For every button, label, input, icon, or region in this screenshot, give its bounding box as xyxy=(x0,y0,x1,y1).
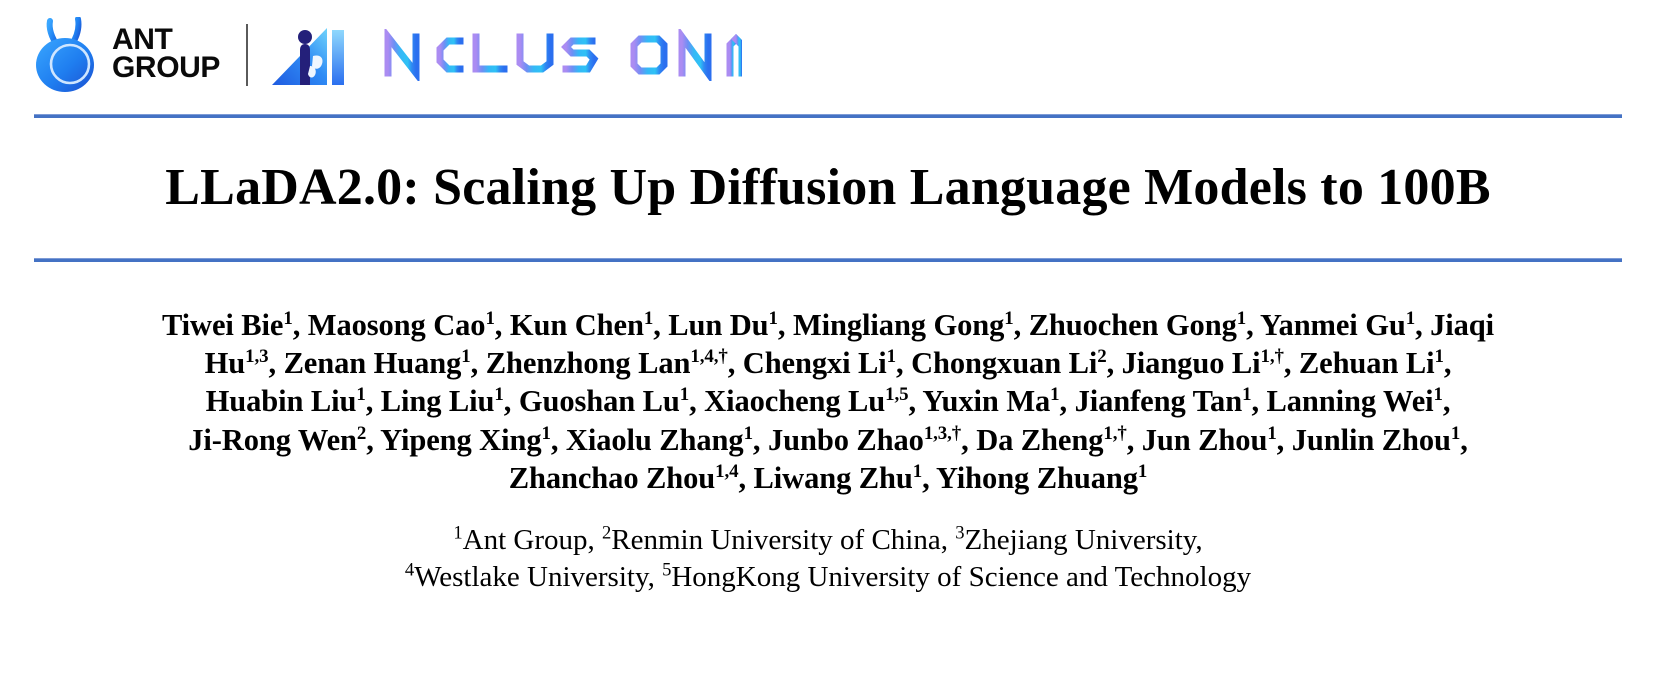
author-name: Yipeng Xing xyxy=(380,423,541,457)
author-separator: , xyxy=(1246,308,1260,342)
author-name: Xiaocheng Lu xyxy=(704,384,885,418)
author-affiliation-marker: 1 xyxy=(644,307,653,328)
author-name: Jiaqi xyxy=(1430,308,1494,342)
author-separator: , xyxy=(896,346,911,380)
author-separator: , xyxy=(1127,423,1142,457)
author-list: Tiwei Bie1, Maosong Cao1, Kun Chen1, Lun… xyxy=(0,262,1656,498)
author-affiliation-marker: 2 xyxy=(1097,346,1106,367)
author-name: Zhanchao Zhou xyxy=(509,461,715,495)
ant-group-logo: ANT GROUP xyxy=(30,17,220,93)
affiliation-name: Westlake University xyxy=(414,561,647,593)
affiliation-marker: 2 xyxy=(602,522,611,543)
author-affiliation-marker: 1 xyxy=(769,307,778,328)
inclusion-ai-logo xyxy=(270,22,742,88)
affiliation-name: Ant Group xyxy=(463,524,588,556)
author-affiliation-marker: 1 xyxy=(283,307,292,328)
author-name: Kun Chen xyxy=(510,308,644,342)
author-affiliation-marker: 1 xyxy=(1406,307,1415,328)
affiliation-separator: , xyxy=(941,524,956,556)
affiliation-name: Renmin University of China xyxy=(611,524,940,556)
author-line: Zhanchao Zhou1,4, Liwang Zhu1, Yihong Zh… xyxy=(28,459,1628,497)
author-affiliation-marker: 1,3,† xyxy=(924,423,961,444)
author-name: Zhuochen Gong xyxy=(1029,308,1237,342)
author-separator: , xyxy=(504,384,519,418)
author-name: Huabin Liu xyxy=(206,384,357,418)
author-separator: , xyxy=(653,308,668,342)
author-name: Jun Zhou xyxy=(1142,423,1268,457)
author-separator: , xyxy=(1460,423,1468,457)
author-name: Yihong Zhuang xyxy=(936,461,1138,495)
affiliation-marker: 5 xyxy=(662,559,671,580)
logo-divider xyxy=(246,24,248,86)
author-name: Da Zheng xyxy=(976,423,1103,457)
affiliation-separator: , xyxy=(1195,524,1202,556)
affiliation-line: 1Ant Group, 2Renmin University of China,… xyxy=(40,522,1616,559)
author-affiliation-marker: 1 xyxy=(542,423,551,444)
affiliation-marker: 3 xyxy=(955,522,964,543)
author-separator: , xyxy=(551,423,566,457)
author-name: Junbo Zhao xyxy=(768,423,924,457)
author-affiliation-marker: 1,4 xyxy=(715,461,738,482)
author-affiliation-marker: 1,† xyxy=(1103,423,1126,444)
author-line: Ji-Rong Wen2, Yipeng Xing1, Xiaolu Zhang… xyxy=(28,421,1628,459)
author-name: Lanning Wei xyxy=(1267,384,1434,418)
affiliation-marker: 4 xyxy=(405,559,414,580)
ant-bug-icon xyxy=(30,17,100,93)
author-affiliation-marker: 1 xyxy=(1237,307,1246,328)
author-separator: , xyxy=(1060,384,1075,418)
author-separator: , xyxy=(778,308,793,342)
affiliation-list: 1Ant Group, 2Renmin University of China,… xyxy=(0,498,1656,596)
affiliation-line: 4Westlake University, 5HongKong Universi… xyxy=(40,559,1616,596)
author-name: Ling Liu xyxy=(381,384,495,418)
author-line: Hu1,3, Zenan Huang1, Zhenzhong Lan1,4,†,… xyxy=(28,344,1628,382)
author-name: Jianguo Li xyxy=(1122,346,1261,380)
author-name: Zhenzhong Lan xyxy=(486,346,691,380)
author-affiliation-marker: 1 xyxy=(485,307,494,328)
ant-wordmark-line-1: ANT xyxy=(112,26,220,54)
ant-group-wordmark: ANT GROUP xyxy=(112,26,220,83)
affiliation-marker: 1 xyxy=(453,522,462,543)
author-separator: , xyxy=(738,461,753,495)
author-affiliation-marker: 1 xyxy=(680,384,689,405)
author-separator: , xyxy=(1277,423,1292,457)
author-affiliation-marker: 1 xyxy=(461,346,470,367)
affiliation-name: Zhejiang University xyxy=(965,524,1196,556)
author-affiliation-marker: 1 xyxy=(1138,461,1147,482)
author-name: Yuxin Ma xyxy=(922,384,1050,418)
author-name: Guoshan Lu xyxy=(519,384,680,418)
author-affiliation-marker: 1 xyxy=(1451,423,1460,444)
author-name: Lun Du xyxy=(668,308,768,342)
author-name: Yanmei Gu xyxy=(1260,308,1406,342)
inclusion-ramp-person-icon xyxy=(270,22,348,88)
author-separator: , xyxy=(1284,346,1299,380)
author-separator: , xyxy=(753,423,768,457)
author-affiliation-marker: 1 xyxy=(1004,307,1013,328)
affiliation-separator: , xyxy=(648,561,663,593)
author-name: Chongxuan Li xyxy=(911,346,1097,380)
author-name: Xiaolu Zhang xyxy=(566,423,744,457)
author-name: Chengxi Li xyxy=(743,346,887,380)
author-name: Zenan Huang xyxy=(284,346,462,380)
author-line: Huabin Liu1, Ling Liu1, Guoshan Lu1, Xia… xyxy=(28,382,1628,420)
author-name: Ji-Rong Wen xyxy=(188,423,357,457)
author-separator: , xyxy=(366,384,381,418)
author-name: Tiwei Bie xyxy=(162,308,283,342)
affiliation-separator: , xyxy=(588,524,603,556)
author-name: Maosong Cao xyxy=(308,308,486,342)
inclusion-ai-wordmark xyxy=(364,29,742,81)
author-separator: , xyxy=(1014,308,1029,342)
author-affiliation-marker: 1 xyxy=(1434,384,1443,405)
author-line: Tiwei Bie1, Maosong Cao1, Kun Chen1, Lun… xyxy=(28,306,1628,344)
author-separator: , xyxy=(1444,346,1452,380)
author-name: Liwang Zhu xyxy=(754,461,913,495)
author-separator: , xyxy=(728,346,743,380)
author-separator: , xyxy=(1415,308,1430,342)
author-affiliation-marker: 1 xyxy=(913,461,922,482)
author-separator: , xyxy=(689,384,704,418)
author-separator: , xyxy=(909,384,923,418)
author-separator: , xyxy=(471,346,486,380)
author-separator: , xyxy=(1443,384,1451,418)
page-title: LLaDA2.0: Scaling Up Diffusion Language … xyxy=(0,118,1656,258)
affiliation-name: HongKong University of Science and Techn… xyxy=(671,561,1251,593)
author-affiliation-marker: 1,† xyxy=(1260,346,1283,367)
author-separator: , xyxy=(1251,384,1266,418)
author-separator: , xyxy=(366,423,380,457)
author-affiliation-marker: 1 xyxy=(1050,384,1059,405)
author-separator: , xyxy=(1107,346,1122,380)
author-separator: , xyxy=(293,308,308,342)
author-affiliation-marker: 1,4,† xyxy=(690,346,727,367)
author-name: Hu xyxy=(205,346,246,380)
author-affiliation-marker: 1 xyxy=(887,346,896,367)
author-affiliation-marker: 2 xyxy=(357,423,366,444)
author-affiliation-marker: 1 xyxy=(1434,346,1443,367)
author-separator: , xyxy=(495,308,510,342)
logo-bar: ANT GROUP xyxy=(0,0,1656,92)
author-affiliation-marker: 1 xyxy=(356,384,365,405)
author-name: Jianfeng Tan xyxy=(1075,384,1242,418)
author-separator: , xyxy=(269,346,284,380)
author-separator: , xyxy=(961,423,976,457)
author-affiliation-marker: 1 xyxy=(494,384,503,405)
author-separator: , xyxy=(922,461,936,495)
author-affiliation-marker: 1 xyxy=(744,423,753,444)
author-name: Zehuan Li xyxy=(1299,346,1435,380)
author-affiliation-marker: 1 xyxy=(1267,423,1276,444)
author-affiliation-marker: 1,3 xyxy=(245,346,268,367)
ant-wordmark-line-2: GROUP xyxy=(112,54,220,82)
author-affiliation-marker: 1,5 xyxy=(885,384,908,405)
author-name: Junlin Zhou xyxy=(1292,423,1451,457)
author-name: Mingliang Gong xyxy=(793,308,1004,342)
